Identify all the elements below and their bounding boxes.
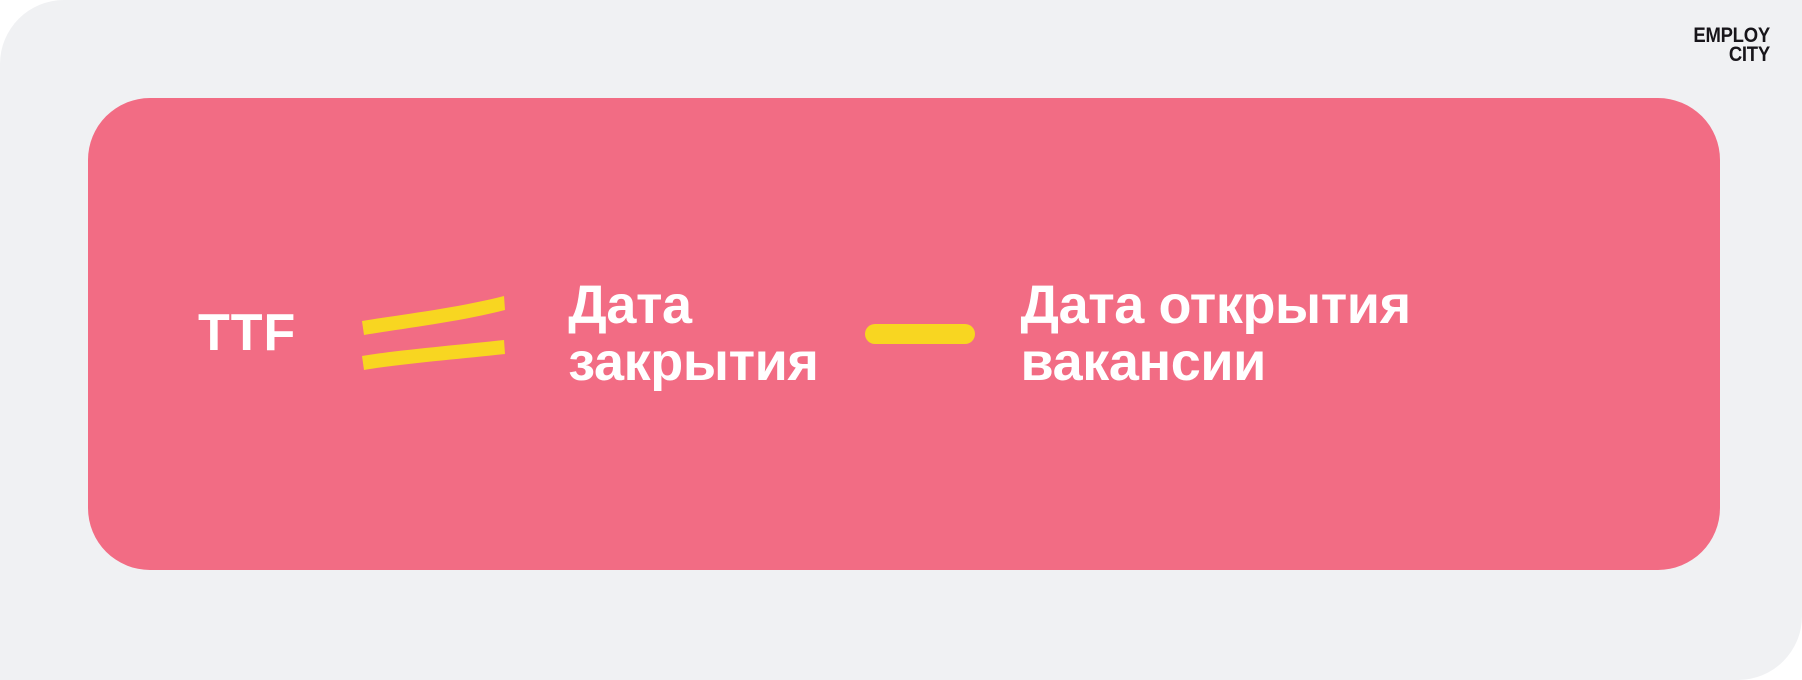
minus-bar-icon: [865, 324, 975, 344]
formula-subtrahend-label: Дата открытия вакансии: [1021, 277, 1411, 391]
ttf-formula: TTF Дата закрытия Дата открытия вакансии: [88, 98, 1720, 570]
brand-logo-line-2: CITY: [1694, 45, 1770, 64]
formula-card: TTF Дата закрытия Дата открытия вакансии: [88, 98, 1720, 570]
formula-metric-label: TTF: [198, 306, 296, 361]
page-root: EMPLOY CITY TTF Дата закрытия Дата откры…: [0, 0, 1802, 680]
formula-minuend-label: Дата закрытия: [568, 277, 818, 391]
brand-logo: EMPLOY CITY: [1694, 26, 1770, 65]
hand-drawn-equals-icon: [358, 288, 508, 380]
